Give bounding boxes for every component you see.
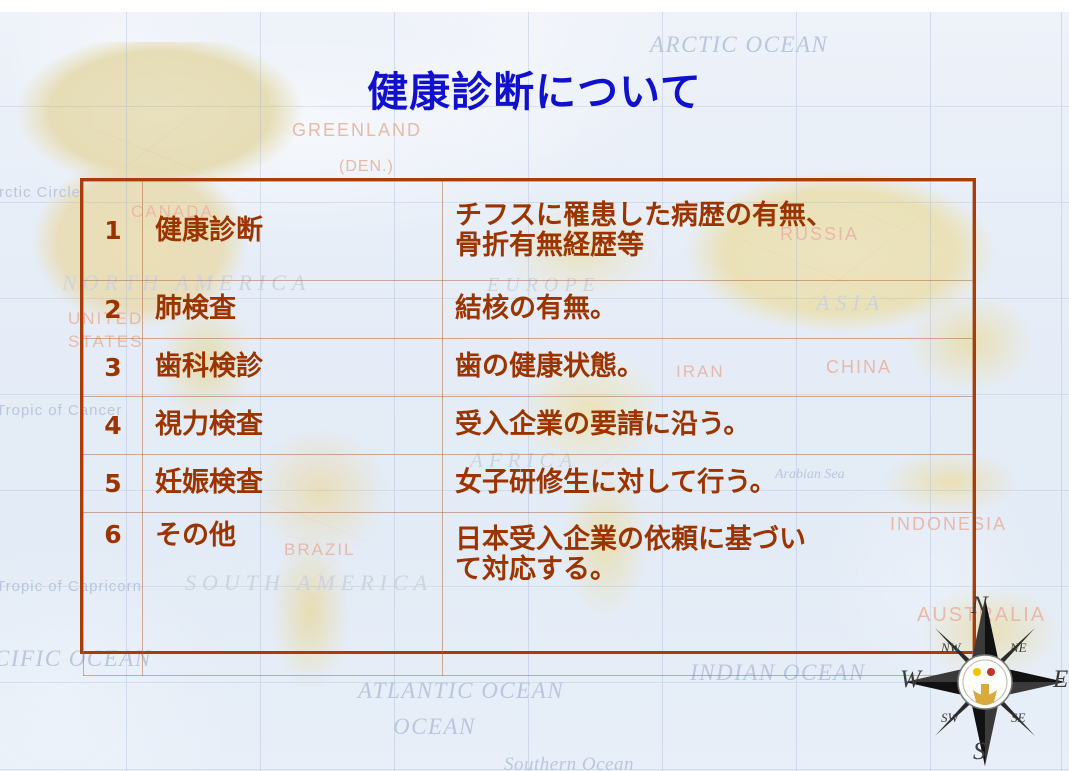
row-description-line: 日本受入企業の依頼に基づい xyxy=(455,525,966,555)
table-row: 1 健康診断 チフスに罹患した病歴の有無、 骨折有無経歴等 xyxy=(84,182,973,281)
compass-label-southeast: SE xyxy=(1011,710,1025,726)
row-description: 結核の有無。 xyxy=(443,281,973,339)
row-number: 3 xyxy=(84,339,143,397)
compass-label-south: S xyxy=(973,738,986,766)
row-description-line: 受入企業の要請に沿う。 xyxy=(455,410,966,440)
row-item-name: 肺検査 xyxy=(143,281,443,339)
table-row: 2 肺検査 結核の有無。 xyxy=(84,281,973,339)
row-item-name: 視力検査 xyxy=(143,397,443,455)
row-number: 2 xyxy=(84,281,143,339)
row-number: 4 xyxy=(84,397,143,455)
row-number: 6 xyxy=(84,513,143,676)
row-number: 5 xyxy=(84,455,143,513)
compass-label-west: W xyxy=(900,666,921,694)
table-row: 5 妊娠検査 女子研修生に対して行う。 xyxy=(84,455,973,513)
row-item-name: その他 xyxy=(143,513,443,676)
compass-rose: N S E W NE NW SE SW xyxy=(905,598,1065,766)
row-item-name: 健康診断 xyxy=(143,182,443,281)
row-description-line: 女子研修生に対して行う。 xyxy=(455,468,966,498)
table-row: 3 歯科検診 歯の健康状態。 xyxy=(84,339,973,397)
slide-canvas: ARCTIC OCEAN ATLANTIC OCEAN OCEAN Southe… xyxy=(0,0,1069,771)
row-number: 1 xyxy=(84,182,143,281)
health-check-table: 1 健康診断 チフスに罹患した病歴の有無、 骨折有無経歴等 2 肺検査 結核の有… xyxy=(80,178,976,654)
compass-label-northeast: NE xyxy=(1010,640,1027,656)
row-description-line: チフスに罹患した病歴の有無、 xyxy=(455,201,966,231)
row-description: 歯の健康状態。 xyxy=(443,339,973,397)
compass-label-southwest: SW xyxy=(941,710,958,726)
row-item-name: 歯科検診 xyxy=(143,339,443,397)
compass-label-northwest: NW xyxy=(941,640,961,656)
row-description-line: 結核の有無。 xyxy=(455,294,966,324)
row-description: 日本受入企業の依頼に基づい て対応する。 xyxy=(443,513,973,676)
row-description-line: 骨折有無経歴等 xyxy=(455,231,966,261)
slide-title: 健康診断について xyxy=(0,58,1069,118)
table-row: 4 視力検査 受入企業の要請に沿う。 xyxy=(84,397,973,455)
row-description-line: て対応する。 xyxy=(455,555,966,585)
row-description: 受入企業の要請に沿う。 xyxy=(443,397,973,455)
compass-label-east: E xyxy=(1053,666,1068,694)
row-item-name: 妊娠検査 xyxy=(143,455,443,513)
row-description: チフスに罹患した病歴の有無、 骨折有無経歴等 xyxy=(443,182,973,281)
table: 1 健康診断 チフスに罹患した病歴の有無、 骨折有無経歴等 2 肺検査 結核の有… xyxy=(83,181,973,676)
row-description-line: 歯の健康状態。 xyxy=(455,352,966,382)
compass-label-north: N xyxy=(971,592,988,620)
row-description: 女子研修生に対して行う。 xyxy=(443,455,973,513)
table-row: 6 その他 日本受入企業の依頼に基づい て対応する。 xyxy=(84,513,973,676)
